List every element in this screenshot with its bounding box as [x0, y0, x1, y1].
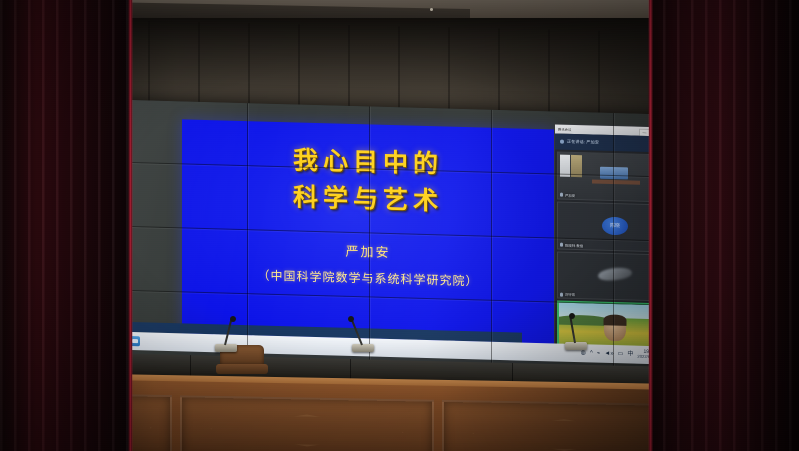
tile-4-hair [604, 314, 627, 326]
wall-bezel-seam [491, 110, 492, 372]
mic-head [348, 316, 354, 322]
meeting-tray-icon[interactable]: ◍ [581, 350, 586, 356]
participant-name-3-text: 刘守宏 [565, 292, 575, 297]
participant-name-1-text: 严加安 [565, 192, 575, 197]
participant-name-1: 严加安 [560, 192, 575, 197]
curtain-folds [649, 0, 799, 451]
ceiling-sensor-1 [430, 8, 433, 11]
mic-base [565, 342, 587, 350]
speaking-status-text: 正在讲话: 严加安 [567, 139, 599, 146]
wall-bezel-seam [247, 103, 248, 365]
mic-base [352, 344, 374, 352]
ime-icon[interactable]: 中 [627, 351, 633, 357]
wall-bezel-seam [369, 106, 370, 368]
curtain-right-edge [648, 0, 653, 451]
battery-icon[interactable]: ▭ [618, 351, 624, 357]
curtain-left [0, 0, 132, 451]
curtain-right [649, 0, 799, 451]
avatar: 陈晓 [602, 216, 628, 235]
mic-head [230, 316, 236, 322]
wall-bezel-seam [613, 113, 614, 375]
mic-icon [560, 292, 563, 296]
mic-base [215, 344, 237, 352]
mic-icon [560, 243, 563, 247]
curtain-left-edge [128, 0, 133, 451]
network-icon[interactable]: ⌁ [597, 351, 601, 357]
participant-name-2-text: 陈晓林·教授 [565, 242, 583, 247]
curtain-folds [0, 0, 132, 451]
participant-name-2: 陈晓林·教授 [560, 242, 583, 248]
chair-seat [216, 364, 268, 374]
led-video-wall[interactable]: 我心目中的 科学与艺术 严加安 （中国科学院数学与系统科学研究院） [57, 98, 674, 377]
show-hidden-icons-chevron[interactable]: ^ [590, 350, 593, 356]
participant-name-3: 刘守宏 [560, 292, 575, 297]
tile-1-screen [600, 167, 628, 180]
meeting-window-title: 腾讯会议 [555, 126, 572, 131]
speaking-indicator-icon [560, 140, 564, 144]
mic-head [569, 313, 575, 319]
lecture-hall-photo: 我心目中的 科学与艺术 严加安 （中国科学院数学与系统科学研究院） [0, 0, 799, 451]
mic-icon [560, 193, 563, 197]
